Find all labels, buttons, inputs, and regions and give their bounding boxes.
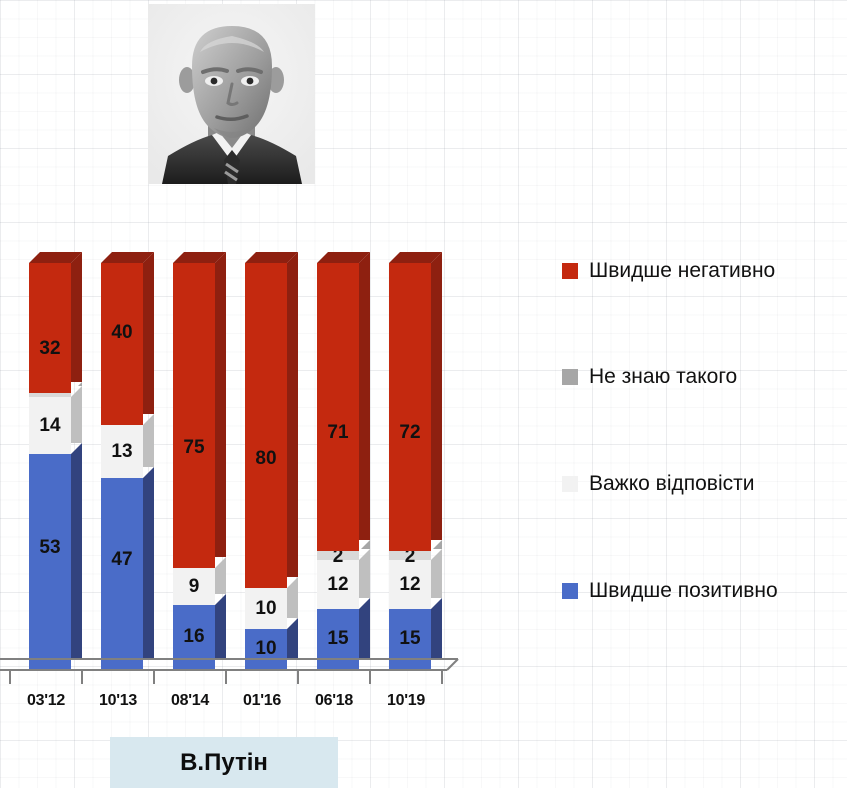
value-label: 71 (317, 423, 359, 442)
x-axis-label-2: 08'14 (154, 692, 226, 710)
segment-negative: 80 (245, 263, 287, 588)
value-label: 16 (173, 627, 215, 646)
value-label: 12 (389, 575, 431, 594)
segment-hard-to-say: 9 (173, 568, 215, 605)
legend-swatch-negative-icon (562, 263, 578, 279)
value-label: 15 (389, 629, 431, 648)
legend-item-dont-know[interactable]: Не знаю такого (562, 364, 737, 390)
legend-label-positive: Швидше позитивно (589, 579, 778, 603)
segment-hard-to-say: 13 (101, 425, 143, 478)
chart-plot-area: 53 14 32 47 13 (0, 0, 847, 788)
legend-item-positive[interactable]: Швидше позитивно (562, 578, 778, 604)
segment-positive: 53 (29, 454, 71, 670)
legend-item-hard-to-say[interactable]: Важко відповісти (562, 471, 754, 497)
segment-negative: 75 (173, 263, 215, 568)
chart-caption-text: В.Путін (180, 749, 268, 777)
value-label: 15 (317, 629, 359, 648)
value-label: 75 (173, 438, 215, 457)
segment-positive: 10 (245, 629, 287, 670)
x-axis-label-1: 10'13 (82, 692, 154, 710)
legend-swatch-hard-to-say-icon (562, 476, 578, 492)
segment-negative: 71 (317, 263, 359, 551)
segment-positive: 47 (101, 478, 143, 670)
legend-label-dont-know: Не знаю такого (589, 365, 737, 389)
segment-hard-to-say: 12 (317, 560, 359, 609)
value-label: 12 (317, 575, 359, 594)
segment-dont-know: 2 (389, 551, 431, 560)
segment-positive: 15 (317, 609, 359, 670)
segment-hard-to-say: 12 (389, 560, 431, 609)
value-label: 10 (245, 599, 287, 618)
value-label: 10 (245, 639, 287, 658)
x-axis-label-3: 01'16 (226, 692, 298, 710)
legend-swatch-dont-know-icon (562, 369, 578, 385)
segment-dont-know (29, 393, 71, 397)
value-label: 40 (101, 323, 143, 342)
segment-hard-to-say: 10 (245, 588, 287, 629)
value-label: 32 (29, 339, 71, 358)
segment-positive: 15 (389, 609, 431, 670)
value-label: 14 (29, 416, 71, 435)
legend-label-hard-to-say: Важко відповісти (589, 472, 754, 496)
x-axis-label-0: 03'12 (10, 692, 82, 710)
portrait-photo (148, 4, 315, 184)
legend-item-negative[interactable]: Швидше негативно (562, 258, 775, 284)
segment-hard-to-say: 14 (29, 397, 71, 454)
segment-dont-know: 2 (317, 551, 359, 560)
segment-negative: 72 (389, 263, 431, 551)
x-axis-label-5: 10'19 (370, 692, 442, 710)
value-label: 80 (245, 449, 287, 468)
value-label: 72 (389, 423, 431, 442)
value-label: 53 (29, 538, 71, 557)
value-label: 13 (101, 442, 143, 461)
value-label: 47 (101, 550, 143, 569)
segment-positive: 16 (173, 605, 215, 670)
legend-label-negative: Швидше негативно (589, 259, 775, 283)
legend-swatch-positive-icon (562, 583, 578, 599)
chart-caption: В.Путін (110, 737, 338, 788)
x-axis-label-4: 06'18 (298, 692, 370, 710)
segment-negative: 40 (101, 263, 143, 425)
value-label: 9 (173, 577, 215, 596)
segment-negative: 32 (29, 263, 71, 393)
